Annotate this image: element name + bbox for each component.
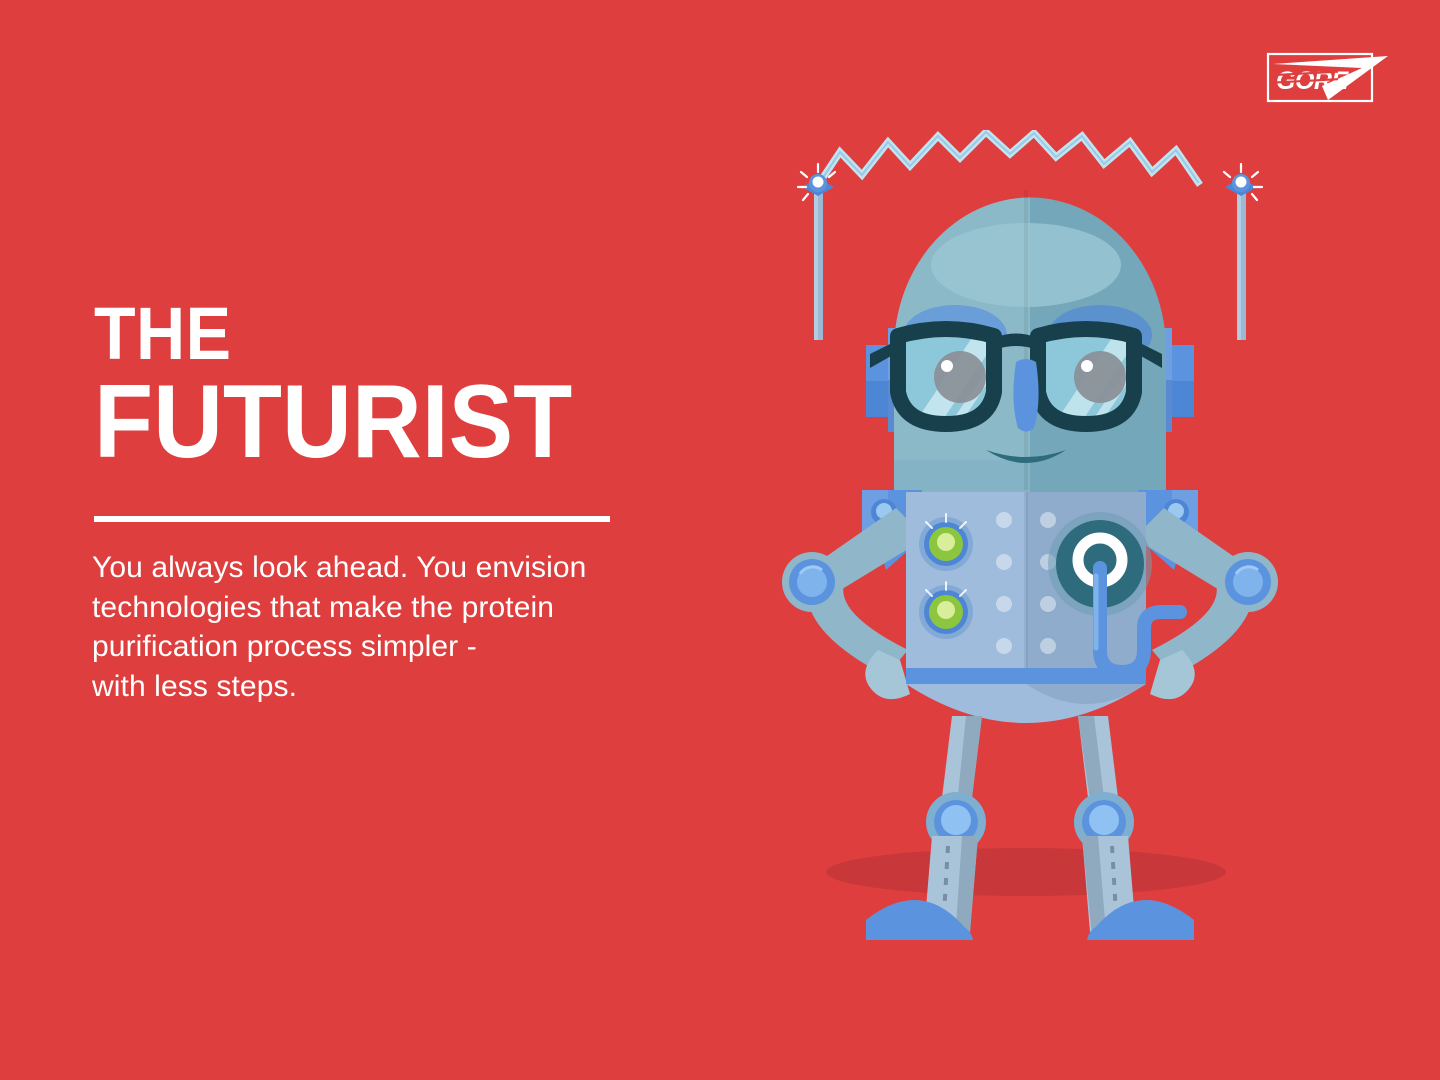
led-light-1: [919, 514, 973, 571]
led-light-2: [919, 582, 973, 639]
ground-shadow: [826, 848, 1226, 896]
gore-logo: GORE: [1258, 48, 1392, 108]
leg-right: [1074, 716, 1194, 940]
eye-left: [934, 351, 986, 403]
arm-right: [1134, 508, 1278, 699]
futurist-robot-illustration: [770, 130, 1290, 940]
nose: [1013, 359, 1038, 432]
headline-block: THE FUTURIST: [94, 300, 714, 472]
page-title: FUTURIST: [94, 374, 671, 472]
leg-left: [866, 716, 986, 940]
eye-right: [1074, 351, 1126, 403]
antenna-right: [1224, 164, 1262, 340]
antenna-left: [798, 164, 835, 340]
lightning-arc: [818, 132, 1198, 185]
kicker-text: THE: [94, 300, 664, 368]
arm-left: [782, 508, 926, 699]
torso: [906, 492, 1180, 723]
body-paragraph: You always look ahead. You envision tech…: [92, 548, 652, 706]
divider-rule: [94, 516, 610, 522]
slide-canvas: GORE: [0, 0, 1440, 1080]
